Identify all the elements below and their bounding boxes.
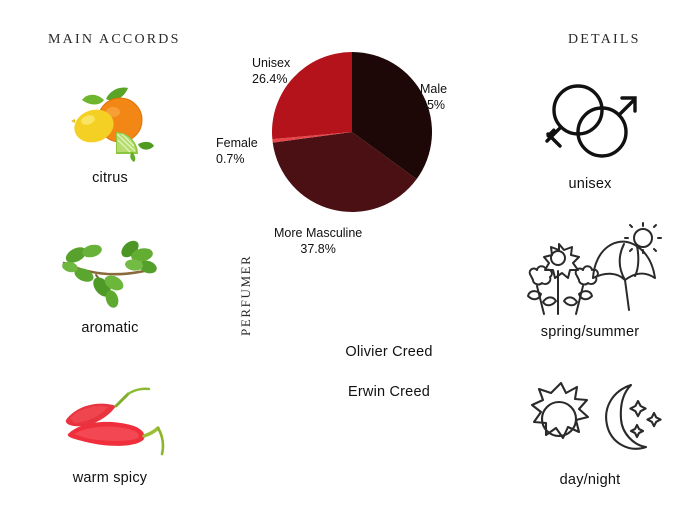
perfumer-section: PERFUMER Olivier Creed Erwin Creed — [238, 330, 478, 430]
pie-label-unisex-percent: 26.4% — [252, 72, 290, 88]
pie-label-female-name: Female — [216, 136, 258, 150]
detail-item-season[interactable]: spring/summer — [480, 220, 700, 368]
details-list: unisex — [480, 72, 700, 516]
pie-label-unisex: Unisex 26.4% — [252, 56, 290, 87]
pie-label-female: Female 0.7% — [216, 136, 258, 167]
pie-label-unisex-name: Unisex — [252, 56, 290, 70]
fragrance-profile-page: MAIN ACCORDS DETAILS — [0, 0, 700, 500]
pie-label-male: Male 35% — [420, 82, 447, 113]
perfumer-name-list: Olivier Creed Erwin Creed — [304, 344, 474, 424]
detail-label: unisex — [480, 176, 700, 192]
accord-item-warm-spicy[interactable]: warm spicy — [0, 380, 220, 530]
pie-label-female-percent: 0.7% — [216, 152, 258, 168]
flowers-umbrella-sun-icon — [480, 220, 700, 324]
accord-item-aromatic[interactable]: aromatic — [0, 230, 220, 380]
pie-label-more-masculine-name: More Masculine — [274, 226, 362, 240]
male-female-symbol-icon — [480, 72, 700, 176]
perfumer-name[interactable]: Olivier Creed — [304, 344, 474, 360]
main-accords-list: citrus — [0, 80, 220, 530]
details-heading: DETAILS — [568, 32, 641, 48]
perfumer-heading: PERFUMER — [238, 255, 254, 336]
accord-item-citrus[interactable]: citrus — [0, 80, 220, 230]
perfumer-name[interactable]: Erwin Creed — [304, 384, 474, 400]
detail-label: spring/summer — [480, 324, 700, 340]
main-accords-heading: MAIN ACCORDS — [48, 32, 181, 48]
citrus-fruit-icon — [0, 80, 220, 166]
pie-label-more-masculine: More Masculine 37.8% — [274, 226, 362, 257]
pie-label-male-name: Male — [420, 82, 447, 96]
detail-label: day/night — [480, 472, 700, 488]
accord-label: citrus — [0, 170, 220, 186]
pie-label-more-masculine-percent: 37.8% — [274, 242, 362, 258]
chili-pepper-icon — [0, 380, 220, 466]
sun-moon-icon — [480, 368, 700, 472]
detail-item-unisex[interactable]: unisex — [480, 72, 700, 220]
accord-label: aromatic — [0, 320, 220, 336]
detail-item-time-of-day[interactable]: day/night — [480, 368, 700, 516]
accord-label: warm spicy — [0, 470, 220, 486]
pie-label-male-percent: 35% — [420, 98, 447, 114]
herb-sprig-icon — [0, 230, 220, 316]
gender-pie-chart: Unisex 26.4% Male 35% Female 0.7% More M… — [212, 40, 492, 290]
